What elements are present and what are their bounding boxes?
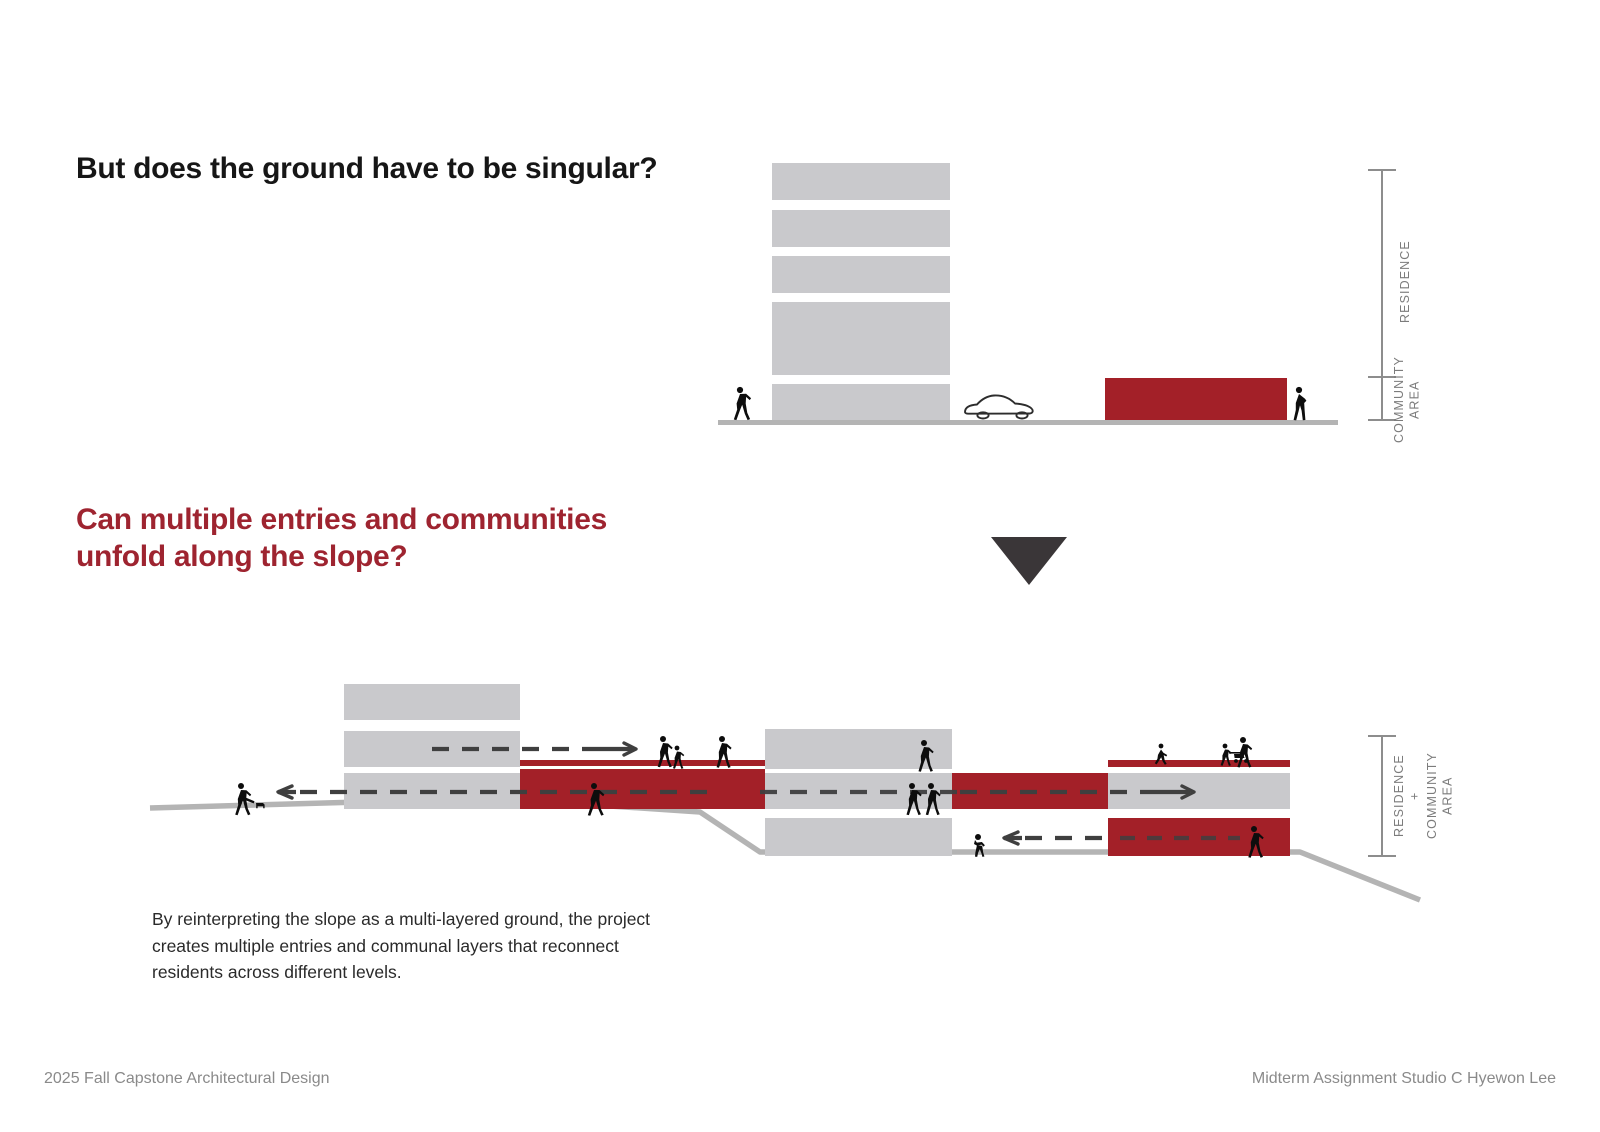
car-outline	[965, 395, 1033, 418]
figure-roof-child	[1221, 744, 1232, 766]
figure-adult-a	[658, 736, 673, 767]
figure-adult-b	[717, 736, 732, 768]
figure-lower-community	[1248, 826, 1263, 858]
caption-paragraph: By reinterpreting the slope as a multi-l…	[152, 906, 792, 986]
dimension-tick-top	[1368, 169, 1396, 171]
figure-crouching	[974, 834, 985, 857]
dimension-label-community-area-bottom: COMMUNITY AREA	[1425, 740, 1456, 852]
footer-author-label: Midterm Assignment Studio C Hyewon Lee	[1252, 1070, 1556, 1088]
figures-overlay	[0, 0, 1600, 480]
dimension-label-residence-plus: RESIDENCE +	[1392, 740, 1423, 852]
dimension-tick-bottom-top	[1368, 735, 1396, 737]
figure-in-community-band	[588, 783, 605, 816]
secondary-question: Can multiple entries and communities unf…	[76, 502, 776, 575]
arrow-mid-right	[960, 786, 1194, 798]
dimension-line-bottom	[1381, 736, 1383, 856]
figure-running-child	[1155, 744, 1167, 765]
figure-on-slab-c	[919, 740, 934, 772]
figure-child-a	[673, 746, 684, 769]
caption-line-3: residents across different levels.	[152, 959, 792, 986]
slide-canvas: But does the ground have to be singular?…	[0, 0, 1600, 1132]
arrow-upper-right	[432, 743, 636, 755]
caption-line-1: By reinterpreting the slope as a multi-l…	[152, 906, 792, 933]
pedestrian-figure-left	[734, 387, 751, 420]
footer-course-label: 2025 Fall Capstone Architectural Design	[44, 1070, 330, 1088]
dimension-label-residence: RESIDENCE	[1398, 222, 1414, 342]
figure-mid-a	[907, 783, 922, 815]
circulation-overlay	[0, 600, 1600, 930]
pedestrian-figure-right	[1294, 387, 1307, 421]
dimension-line-top	[1381, 170, 1383, 420]
secondary-question-line2: unfold along the slope?	[76, 539, 776, 576]
dimension-tick-bottom-bottom	[1368, 855, 1396, 857]
caption-line-2: creates multiple entries and communal la…	[152, 933, 792, 960]
dimension-label-community-area: COMMUNITY AREA	[1392, 352, 1423, 447]
figure-mid-b	[926, 783, 941, 815]
singular-ground-diagram: RESIDENCE COMMUNITY AREA	[0, 0, 1600, 480]
figure-dog-walker	[235, 783, 264, 815]
multi-layered-ground-diagram: RESIDENCE + COMMUNITY AREA	[0, 600, 1600, 930]
arrow-mid-left	[278, 786, 720, 798]
down-triangle-icon	[991, 537, 1067, 585]
arrow-lower-left	[1004, 832, 1240, 844]
secondary-question-line1: Can multiple entries and communities	[76, 503, 607, 536]
